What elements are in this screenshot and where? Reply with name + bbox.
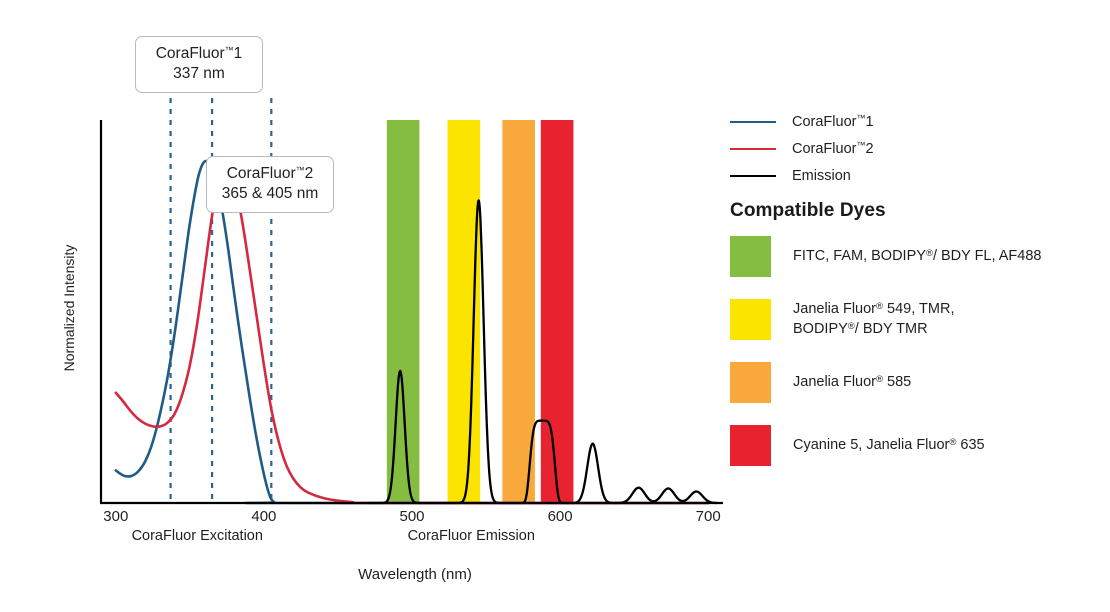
- annotation-cf2-line2: 365 & 405 nm: [219, 184, 321, 204]
- series-legend: CoraFluor™1CoraFluor™2Emission: [730, 108, 1100, 189]
- dye-color-swatch: [730, 236, 771, 277]
- dye-color-swatch: [730, 299, 771, 340]
- x-tick-label-600: 600: [530, 508, 590, 525]
- x-tick-label-500: 500: [382, 508, 442, 525]
- legend-line-swatch: [730, 175, 776, 177]
- axis-sublabel-emission: CoraFluor Emission: [408, 528, 535, 544]
- legend-line-swatch: [730, 148, 776, 150]
- dye-row-2[interactable]: Janelia Fluor® 585: [730, 362, 1105, 403]
- legend-row-corafluor2[interactable]: CoraFluor™2: [730, 135, 1100, 162]
- trademark-icon: ™: [225, 45, 234, 55]
- annotation-corafluor-1: CoraFluor™1 337 nm: [135, 36, 263, 93]
- dye-label: Janelia Fluor® 585: [793, 373, 911, 392]
- annotation-cf2-line1: CoraFluor™2: [219, 164, 321, 184]
- trademark-icon: ™: [856, 113, 865, 123]
- trademark-icon: ™: [296, 165, 305, 175]
- legend-row-corafluor1[interactable]: CoraFluor™1: [730, 108, 1100, 135]
- spectra-figure: CoraFluor™1 337 nm CoraFluor™2 365 & 405…: [0, 0, 1110, 612]
- legend-label: CoraFluor™2: [792, 140, 874, 157]
- annotation-cf1-line1: CoraFluor™1: [148, 44, 250, 64]
- axis-sublabel-excitation: CoraFluor Excitation: [132, 528, 263, 544]
- annotation-cf1-line2: 337 nm: [148, 64, 250, 84]
- x-tick-label-300: 300: [86, 508, 146, 525]
- registered-icon: ®: [848, 321, 855, 332]
- dye-label: FITC, FAM, BODIPY®/ BDY FL, AF488: [793, 247, 1041, 266]
- green-band: [387, 120, 420, 503]
- yellow-band: [448, 120, 481, 503]
- annotation-corafluor-2: CoraFluor™2 365 & 405 nm: [206, 156, 334, 213]
- registered-icon: ®: [876, 374, 883, 385]
- legend-label: CoraFluor™1: [792, 113, 874, 130]
- legend-line-swatch: [730, 121, 776, 123]
- legend-row-emission[interactable]: Emission: [730, 162, 1100, 189]
- registered-icon: ®: [949, 437, 956, 448]
- dye-row-1[interactable]: Janelia Fluor® 549, TMR,BODIPY®/ BDY TMR: [730, 299, 1105, 340]
- legend-label: Emission: [792, 168, 851, 184]
- dye-row-3[interactable]: Cyanine 5, Janelia Fluor® 635: [730, 425, 1105, 466]
- dye-color-swatch: [730, 362, 771, 403]
- registered-icon: ®: [876, 301, 883, 312]
- trademark-icon: ™: [856, 140, 865, 150]
- dye-row-0[interactable]: FITC, FAM, BODIPY®/ BDY FL, AF488: [730, 236, 1105, 277]
- x-tick-label-700: 700: [678, 508, 738, 525]
- dye-color-swatch: [730, 425, 771, 466]
- compatible-dyes-list: FITC, FAM, BODIPY®/ BDY FL, AF488Janelia…: [730, 236, 1105, 488]
- orange-band: [502, 120, 535, 503]
- dye-label: Cyanine 5, Janelia Fluor® 635: [793, 436, 985, 455]
- y-axis-title: Normalized Intensity: [61, 218, 77, 398]
- x-tick-label-400: 400: [234, 508, 294, 525]
- dye-label: Janelia Fluor® 549, TMR,BODIPY®/ BDY TMR: [793, 300, 954, 338]
- red-band: [541, 120, 574, 503]
- compatible-dyes-heading: Compatible Dyes: [730, 200, 886, 222]
- registered-icon: ®: [926, 248, 933, 259]
- x-axis-title: Wavelength (nm): [0, 566, 830, 583]
